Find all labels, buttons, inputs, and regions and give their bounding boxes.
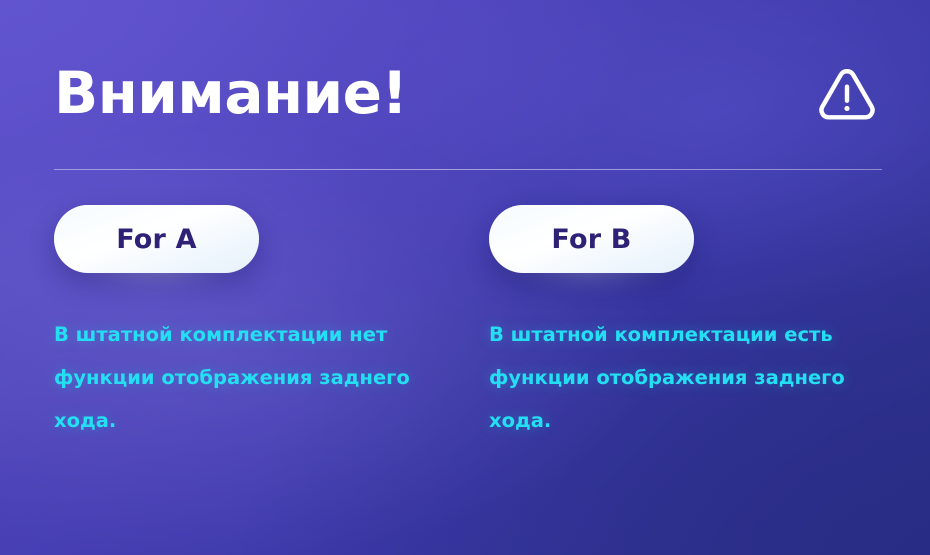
header-divider — [54, 169, 882, 170]
for-a-button-wrap: For A — [54, 205, 259, 273]
warning-triangle-icon — [818, 65, 876, 121]
for-b-button[interactable]: For B — [489, 205, 694, 273]
option-columns: For A В штатной комплектации нет функции… — [0, 205, 930, 442]
slide-content: Внимание! For A В штатной комплектации н… — [0, 0, 930, 555]
for-b-caption: В штатной комплектации есть функции отоб… — [489, 313, 879, 442]
for-b-button-label: For B — [551, 224, 631, 255]
page-title: Внимание! — [54, 64, 407, 122]
option-column-a: For A В штатной комплектации нет функции… — [54, 205, 489, 442]
for-b-button-wrap: For B — [489, 205, 695, 273]
for-a-caption: В штатной комплектации нет функции отобр… — [54, 313, 439, 442]
for-a-button-label: For A — [116, 224, 197, 255]
option-column-b: For B В штатной комплектации есть функци… — [489, 205, 924, 442]
slide-header: Внимание! — [54, 50, 880, 136]
warning-slide: Внимание! For A В штатной комплектации н… — [0, 0, 930, 555]
for-a-button[interactable]: For A — [54, 205, 259, 273]
